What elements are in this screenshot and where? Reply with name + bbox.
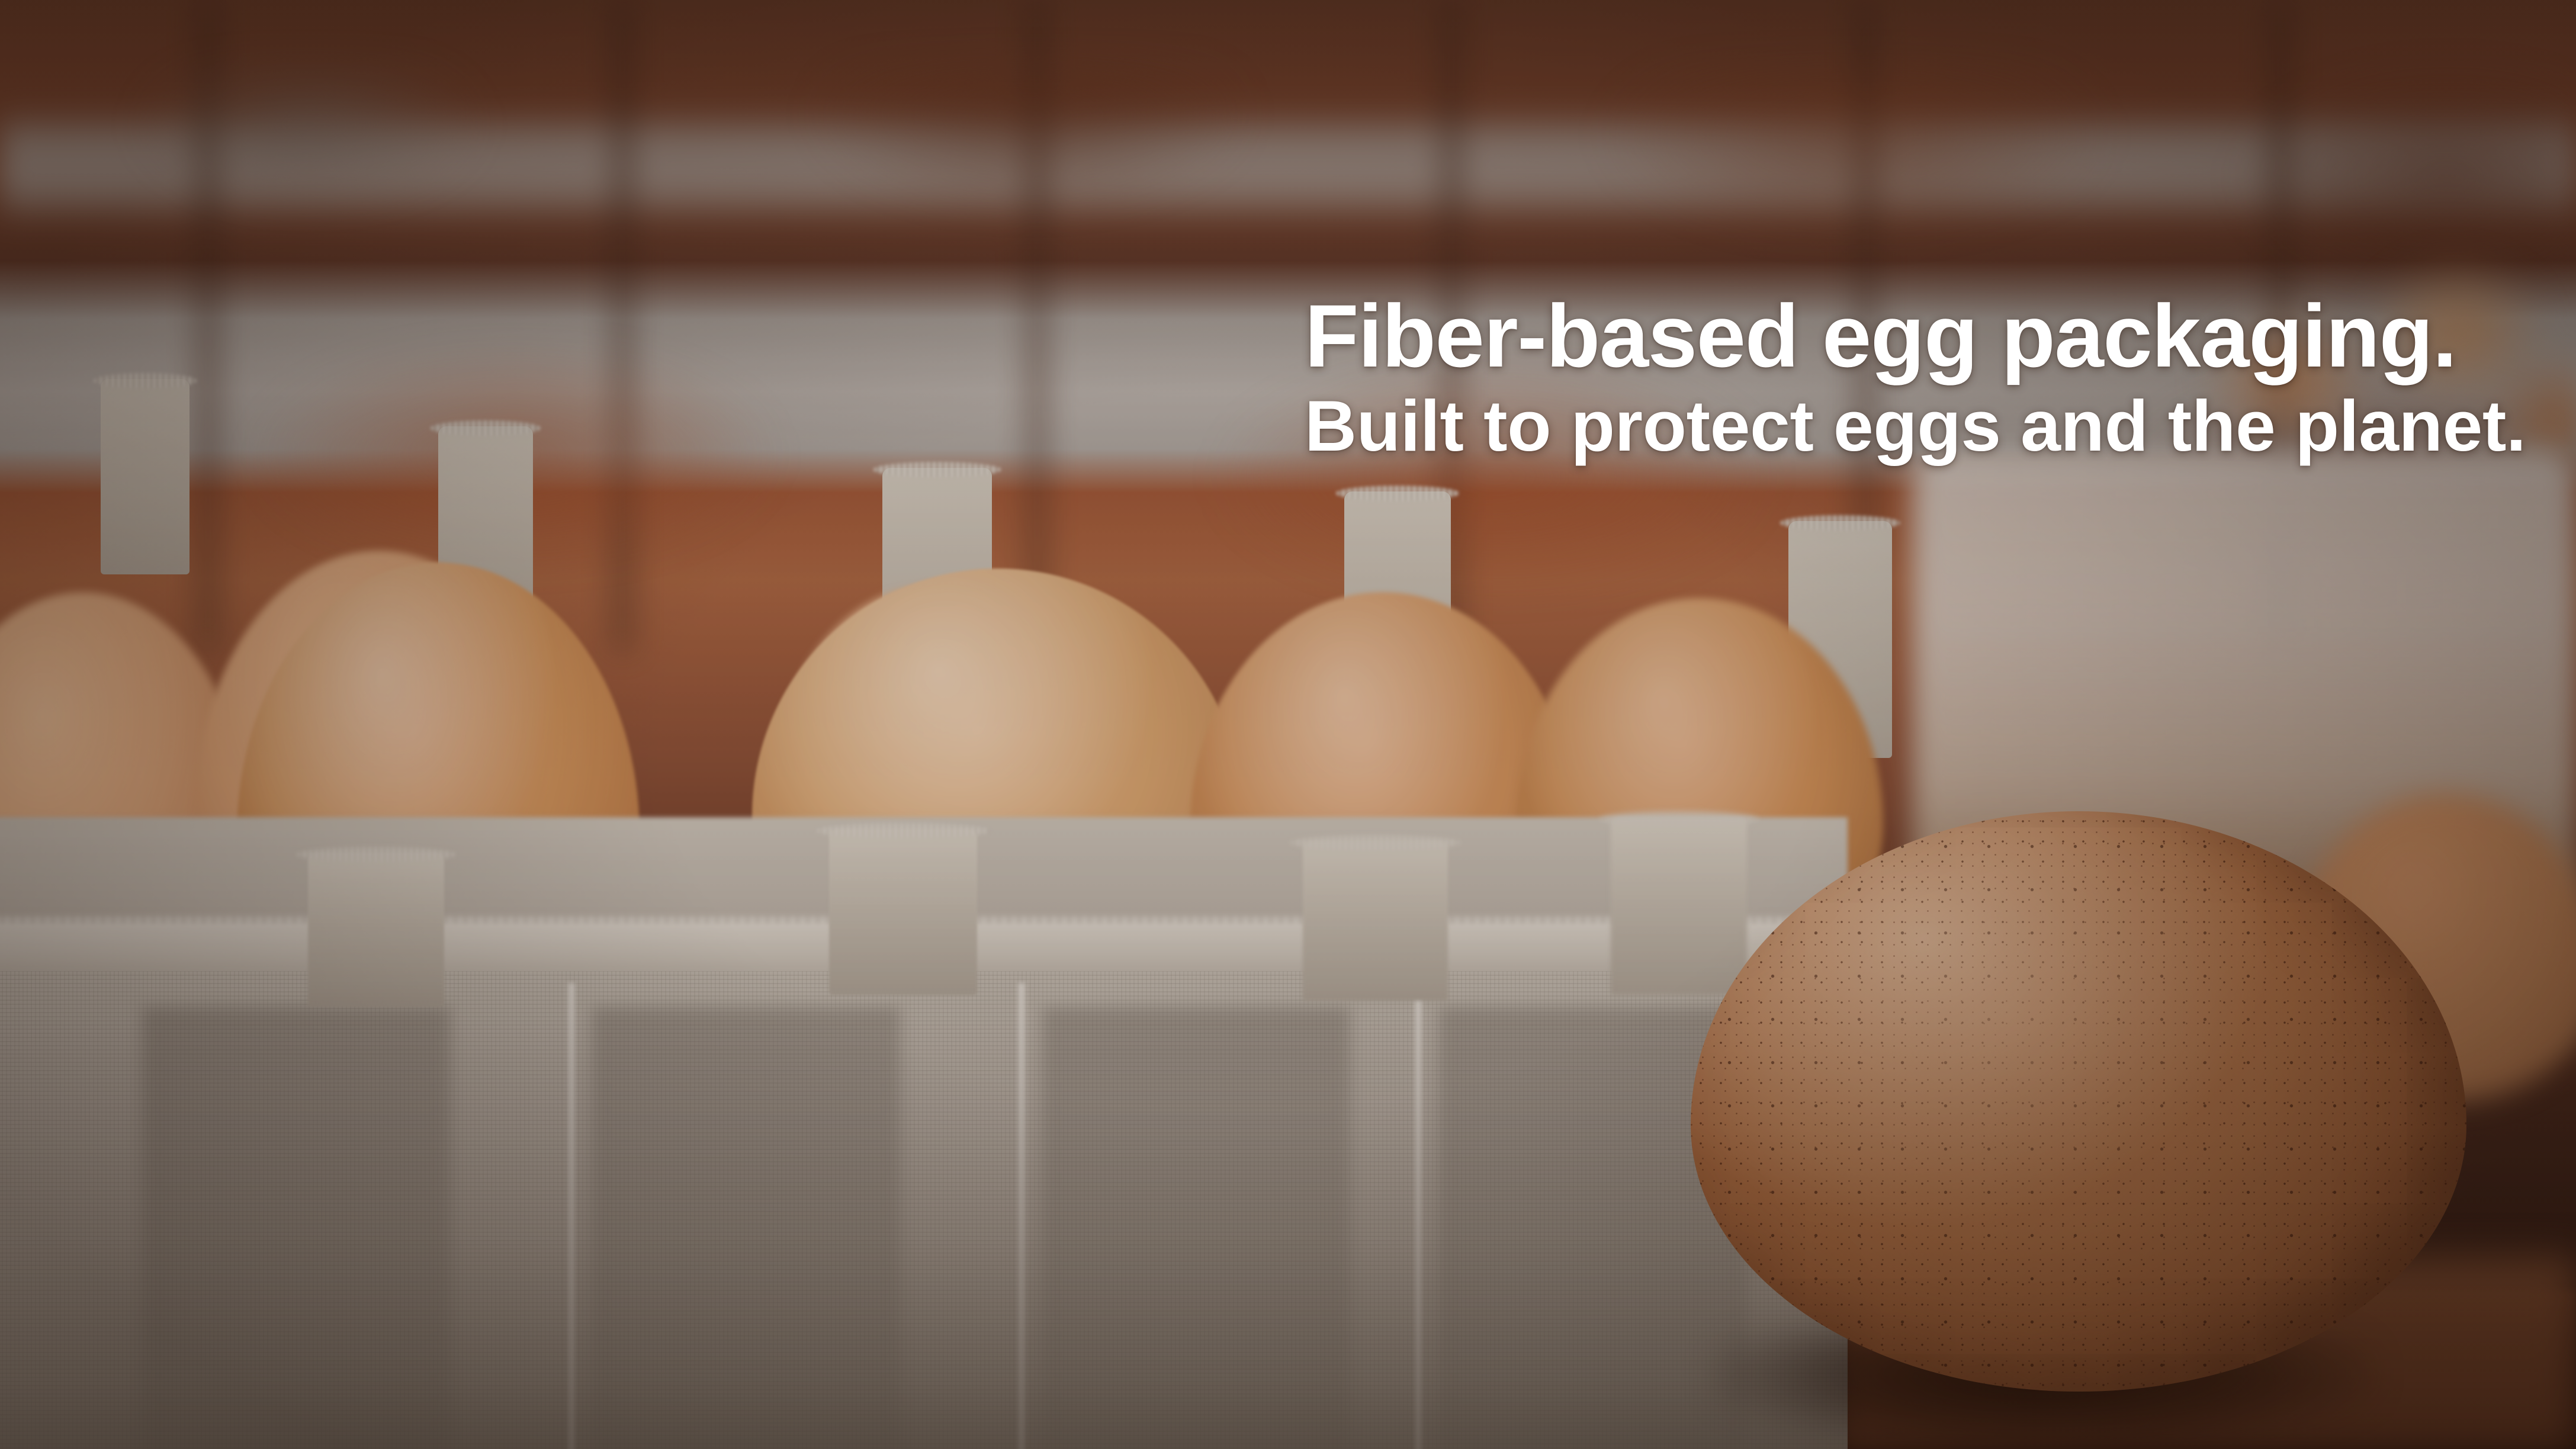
carton-cone-divider bbox=[829, 829, 977, 995]
carton-cell bbox=[1042, 1007, 1350, 1449]
carton-cone-divider bbox=[1611, 817, 1747, 995]
carton-cone-divider bbox=[308, 853, 444, 1007]
hero-banner: Fiber-based egg packaging. Built to prot… bbox=[0, 0, 2576, 1449]
carton-cell bbox=[592, 1007, 900, 1449]
carton-cell-edge bbox=[568, 983, 574, 1449]
carton-cell-edge bbox=[1019, 983, 1024, 1449]
carton-cell-edge bbox=[1415, 983, 1421, 1449]
carton-cell bbox=[142, 1007, 450, 1449]
carton-cone-divider bbox=[101, 379, 189, 574]
carton-cone-divider bbox=[1303, 841, 1448, 1001]
